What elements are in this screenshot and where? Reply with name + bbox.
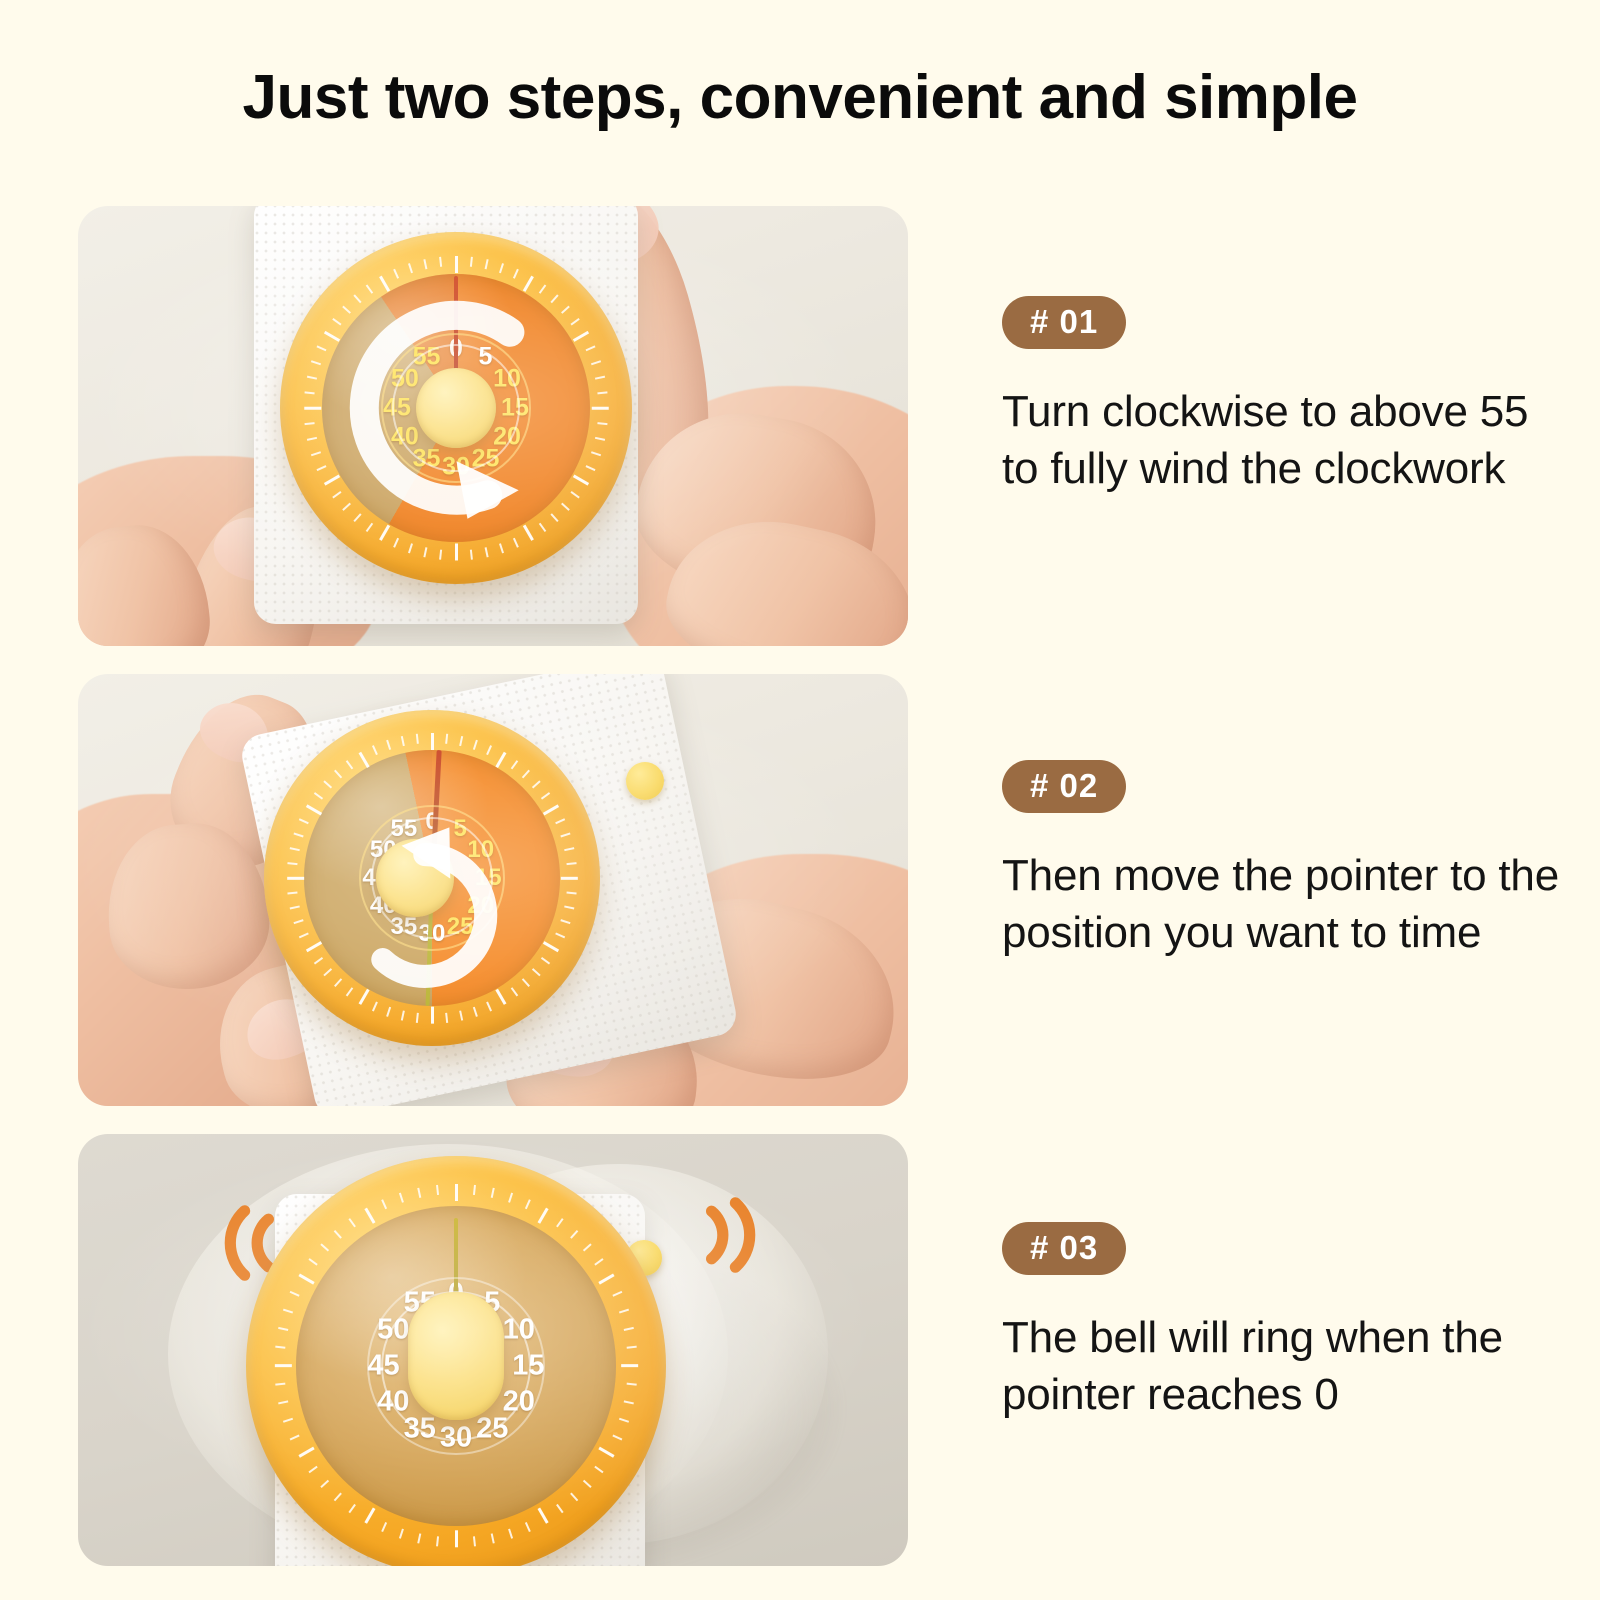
timer-dial-3[interactable]: 0510152025303540455055 bbox=[246, 1156, 666, 1566]
poster-root: Just two steps, convenient and simple bbox=[0, 0, 1600, 1600]
step-row-2: 0510152025303540455055 bbox=[0, 674, 1600, 1106]
step-row-3: 0510152025303540455055 # 03 The bell wil… bbox=[0, 1134, 1600, 1566]
scene-1: 0510152025303540455055 bbox=[78, 206, 908, 646]
step-row-1: 0510152025303540455055 # 01 bbox=[0, 206, 1600, 646]
step-3-photo: 0510152025303540455055 bbox=[78, 1134, 908, 1566]
scene-2: 0510152025303540455055 bbox=[78, 674, 908, 1106]
timer-side-button[interactable] bbox=[626, 762, 664, 800]
step-1-description: Turn clockwise to above 55 to fully wind… bbox=[1002, 383, 1562, 497]
step-2-description: Then move the pointer to the position yo… bbox=[1002, 847, 1562, 961]
step-3-description: The bell will ring when the pointer reac… bbox=[1002, 1309, 1562, 1423]
center-knob-3[interactable] bbox=[408, 1292, 504, 1420]
step-2-photo: 0510152025303540455055 bbox=[78, 674, 908, 1106]
center-knob-2[interactable] bbox=[376, 839, 454, 917]
step-2-text-block: # 02 Then move the pointer to the positi… bbox=[1002, 760, 1562, 961]
center-knob[interactable] bbox=[416, 368, 496, 448]
step-3-badge: # 03 bbox=[1002, 1222, 1126, 1275]
step-2-badge: # 02 bbox=[1002, 760, 1126, 813]
sound-wave-right-icon bbox=[678, 1186, 762, 1284]
step-1-photo: 0510152025303540455055 bbox=[78, 206, 908, 646]
step-1-badge: # 01 bbox=[1002, 296, 1126, 349]
step-1-text-block: # 01 Turn clockwise to above 55 to fully… bbox=[1002, 296, 1562, 497]
scene-3: 0510152025303540455055 bbox=[78, 1134, 908, 1566]
timer-dial-2[interactable]: 0510152025303540455055 bbox=[264, 710, 600, 1046]
page-title: Just two steps, convenient and simple bbox=[0, 62, 1600, 133]
timer-dial-1[interactable]: 0510152025303540455055 bbox=[280, 232, 632, 584]
step-3-text-block: # 03 The bell will ring when the pointer… bbox=[1002, 1222, 1562, 1423]
